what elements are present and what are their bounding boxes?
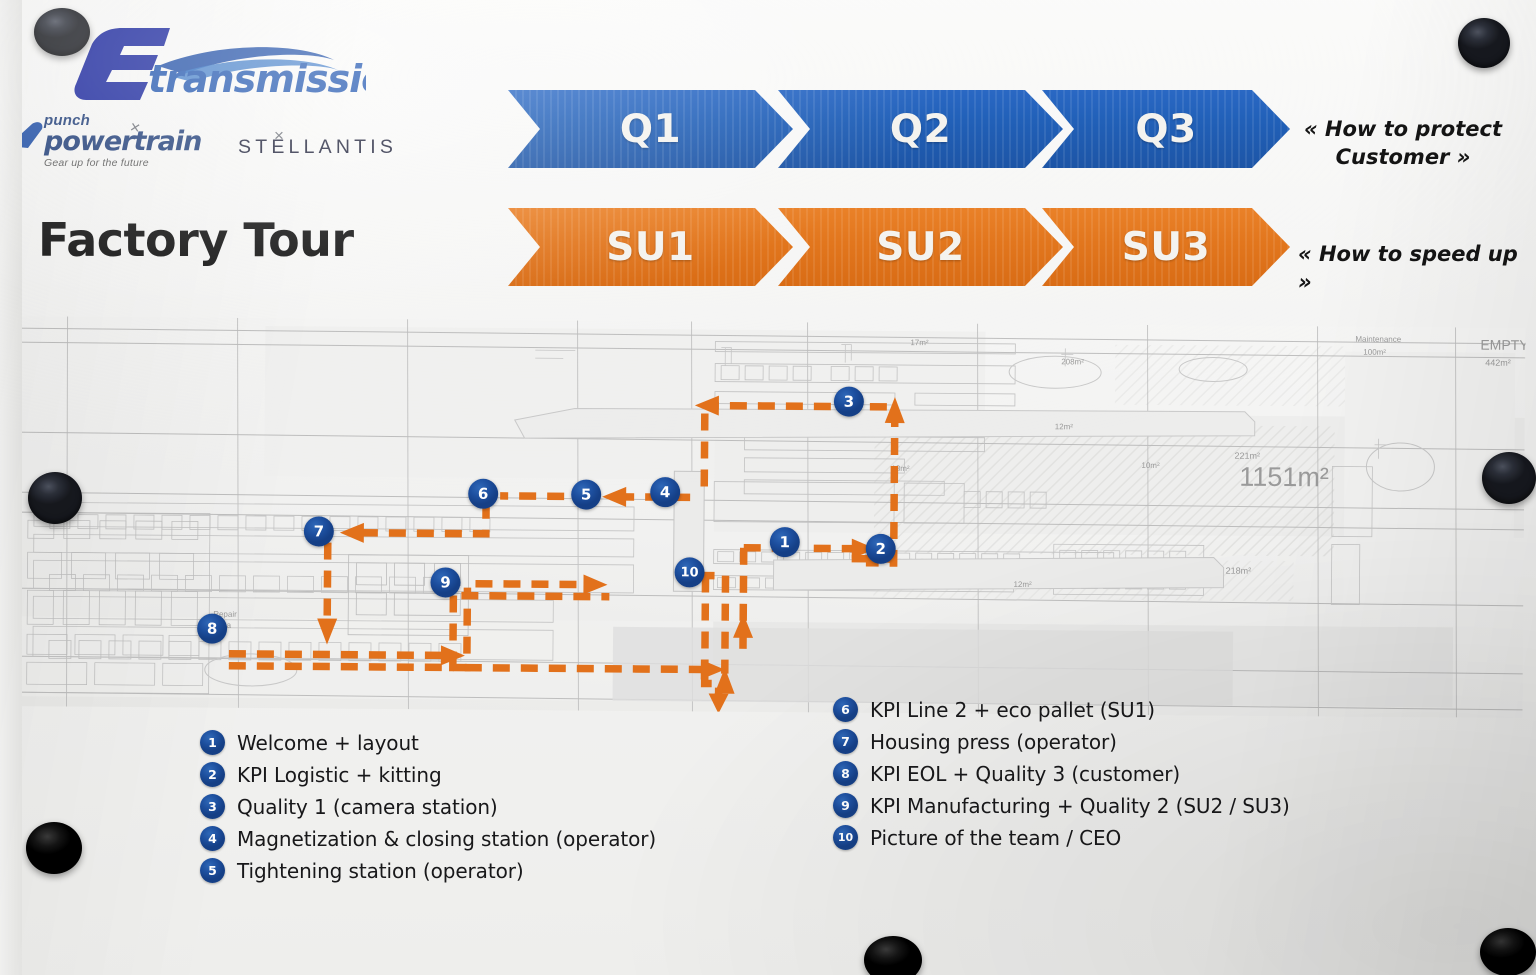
brand-block: transmissions transmissions punch powert…: [38, 22, 468, 169]
route-marker-7[interactable]: 7: [304, 516, 334, 546]
route-marker-2[interactable]: 2: [866, 534, 896, 564]
legend-item-5: 5Tightening station (operator): [200, 858, 760, 883]
speed-quote: « How to speed up »: [1298, 240, 1536, 297]
legend-number-5: 5: [200, 858, 225, 883]
chevron-q2-label: Q2: [890, 107, 951, 152]
magnet-7: [1480, 928, 1536, 975]
legend-item-4: 4Magnetization & closing station (operat…: [200, 826, 760, 851]
magnet-3: [28, 472, 82, 524]
legend-item-10: 10Picture of the team / CEO: [833, 825, 1393, 850]
magnet-5: [26, 822, 82, 874]
legend-item-8: 8KPI EOL + Quality 3 (customer): [833, 761, 1393, 786]
magnet-2: [1458, 18, 1510, 68]
legend-label-10: Picture of the team / CEO: [870, 826, 1121, 850]
route-marker-6[interactable]: 6: [468, 479, 498, 509]
route-marker-4[interactable]: 4: [650, 477, 680, 507]
route-marker-10[interactable]: 10: [674, 557, 704, 587]
chevron-su3-label: SU3: [1122, 225, 1210, 270]
wall-edge: [0, 0, 22, 975]
legend-left-column: 1Welcome + layout2KPI Logistic + kitting…: [200, 730, 760, 890]
chevron-su1[interactable]: SU1: [508, 208, 793, 286]
legend-right-column: 6KPI Line 2 + eco pallet (SU1)7Housing p…: [833, 697, 1393, 857]
legend-number-1: 1: [200, 730, 225, 755]
quality-quote: « How to protect Customer »: [1298, 115, 1508, 172]
chevron-su2-label: SU2: [876, 225, 964, 270]
magnet-1: [34, 8, 90, 56]
chevron-su2[interactable]: SU2: [778, 208, 1063, 286]
legend-item-9: 9KPI Manufacturing + Quality 2 (SU2 / SU…: [833, 793, 1393, 818]
svg-text:transmissions: transmissions: [148, 57, 366, 101]
chevron-su3[interactable]: SU3: [1042, 208, 1290, 286]
chevron-q3[interactable]: Q3: [1042, 90, 1290, 168]
legend-number-6: 6: [833, 697, 858, 722]
chevron-q3-label: Q3: [1135, 107, 1196, 152]
legend-label-9: KPI Manufacturing + Quality 2 (SU2 / SU3…: [870, 794, 1290, 818]
punch-powertrain-logo: punch powertrain Gear up for the future: [44, 112, 212, 169]
etransmissions-logo: transmissions transmissions: [66, 22, 366, 108]
magnet-4: [1482, 452, 1536, 504]
route-marker-1[interactable]: 1: [770, 527, 800, 557]
stellantis-logo: STELLANTIS: [238, 136, 397, 159]
legend-item-7: 7Housing press (operator): [833, 729, 1393, 754]
route-marker-9[interactable]: 9: [430, 567, 460, 597]
route-marker-8[interactable]: 8: [197, 614, 227, 644]
stellantis-wordmark: STELLANTIS: [238, 136, 397, 158]
poster-photo: transmissions transmissions punch powert…: [0, 0, 1536, 975]
quality-quote-line-2: Customer »: [1298, 143, 1508, 171]
legend-label-1: Welcome + layout: [237, 731, 419, 755]
factory-floor-plan[interactable]: 1151m²EMPTY442m²Maintenance100m²221m²218…: [12, 316, 1525, 718]
legend-number-7: 7: [833, 729, 858, 754]
punch-tagline: Gear up for the future: [44, 157, 212, 169]
legend-label-7: Housing press (operator): [870, 730, 1117, 754]
tour-route: [12, 316, 1525, 718]
legend-label-4: Magnetization & closing station (operato…: [237, 827, 656, 851]
legend-label-5: Tightening station (operator): [237, 859, 524, 883]
legend-number-9: 9: [833, 793, 858, 818]
chevron-q1-label: Q1: [620, 107, 681, 152]
legend-label-3: Quality 1 (camera station): [237, 795, 498, 819]
chevron-q1[interactable]: Q1: [508, 90, 793, 168]
route-marker-5[interactable]: 5: [571, 479, 601, 509]
legend-label-8: KPI EOL + Quality 3 (customer): [870, 762, 1180, 786]
chevron-su1-label: SU1: [606, 225, 694, 270]
legend-label-2: KPI Logistic + kitting: [237, 763, 442, 787]
cross-symbol-right: ×: [274, 126, 284, 146]
legend-item-1: 1Welcome + layout: [200, 730, 760, 755]
legend-number-10: 10: [833, 825, 858, 850]
legend-number-4: 4: [200, 826, 225, 851]
route-marker-3[interactable]: 3: [834, 387, 864, 417]
legend-item-3: 3Quality 1 (camera station): [200, 794, 760, 819]
legend-number-3: 3: [200, 794, 225, 819]
page-title: Factory Tour: [38, 213, 354, 267]
chevron-q2[interactable]: Q2: [778, 90, 1063, 168]
legend-label-6: KPI Line 2 + eco pallet (SU1): [870, 698, 1155, 722]
legend-item-6: 6KPI Line 2 + eco pallet (SU1): [833, 697, 1393, 722]
quality-quote-line-1: « How to protect: [1298, 115, 1508, 143]
legend-item-2: 2KPI Logistic + kitting: [200, 762, 760, 787]
legend-number-2: 2: [200, 762, 225, 787]
legend-number-8: 8: [833, 761, 858, 786]
